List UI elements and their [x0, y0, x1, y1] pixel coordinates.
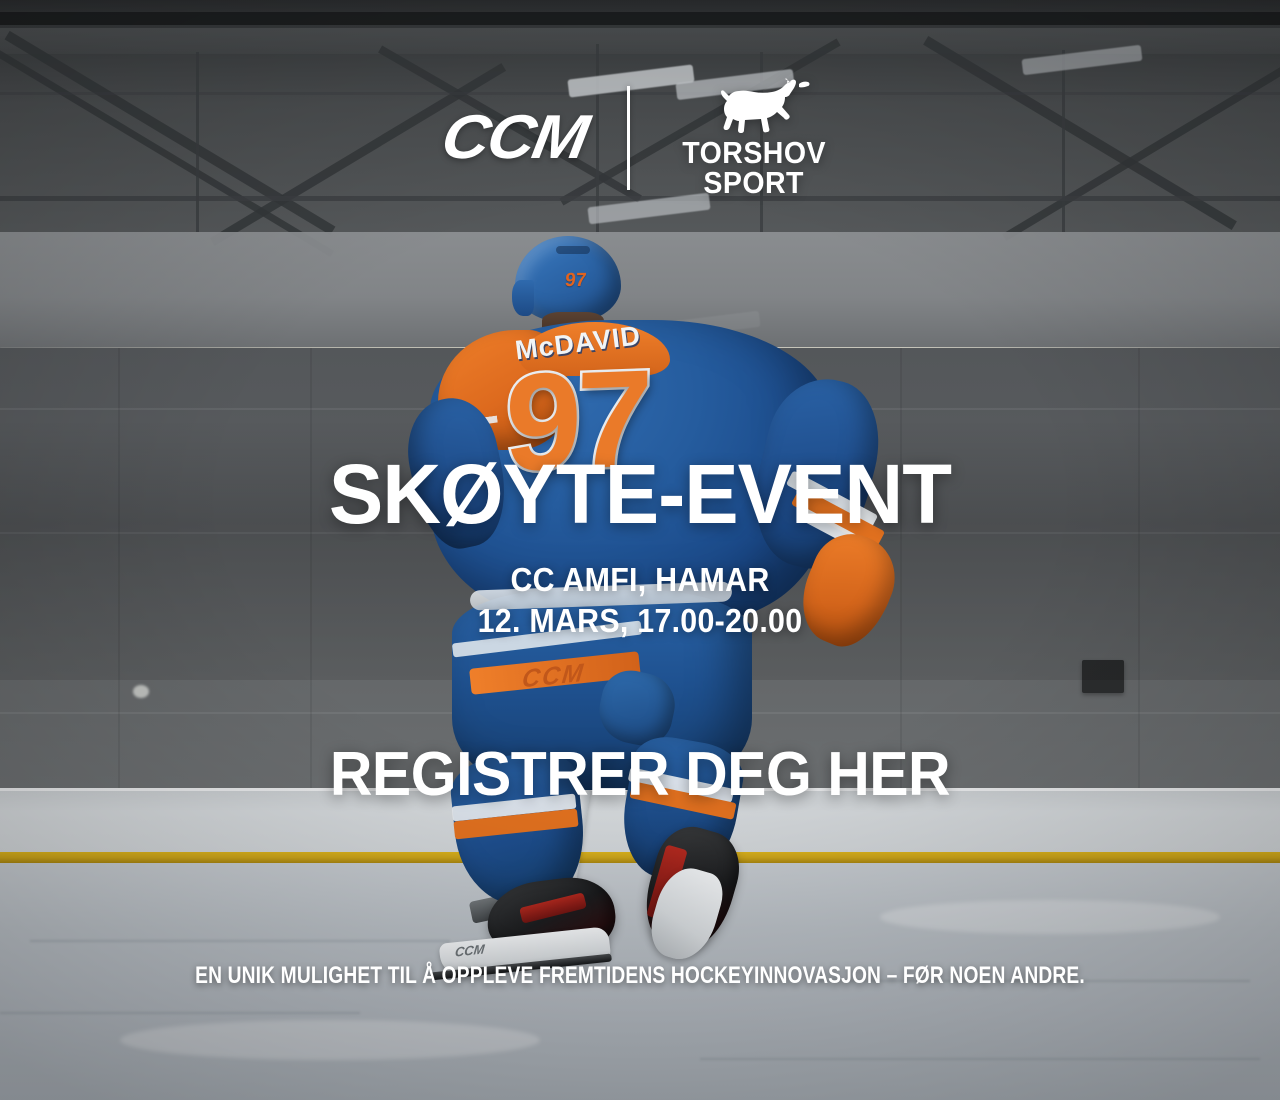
poster-content: CCM TORSHOV SPORT SKØYTE-EVENT CC AMFI, … [0, 0, 1280, 1100]
skoyte-event-poster: 97 McDAVID 97 CCM CCM [0, 0, 1280, 1100]
register-cta[interactable]: REGISTRER DEG HER [32, 744, 1248, 806]
torshov-sport-logo: TORSHOV SPORT [630, 78, 832, 198]
event-datetime: 12. MARS, 17.00-20.00 [51, 603, 1229, 639]
logo-bar: CCM TORSHOV SPORT [0, 78, 1280, 198]
event-venue: CC AMFI, HAMAR [51, 562, 1229, 598]
bull-icon [695, 78, 813, 138]
ccm-logo: CCM [437, 107, 638, 169]
torshov-logo-line2: SPORT [704, 168, 805, 198]
torshov-logo-line1: TORSHOV [682, 138, 826, 168]
event-headline: SKØYTE-EVENT [19, 452, 1261, 536]
event-tagline: EN UNIK MULIGHET TIL Å OPPLEVE FREMTIDEN… [128, 962, 1152, 990]
